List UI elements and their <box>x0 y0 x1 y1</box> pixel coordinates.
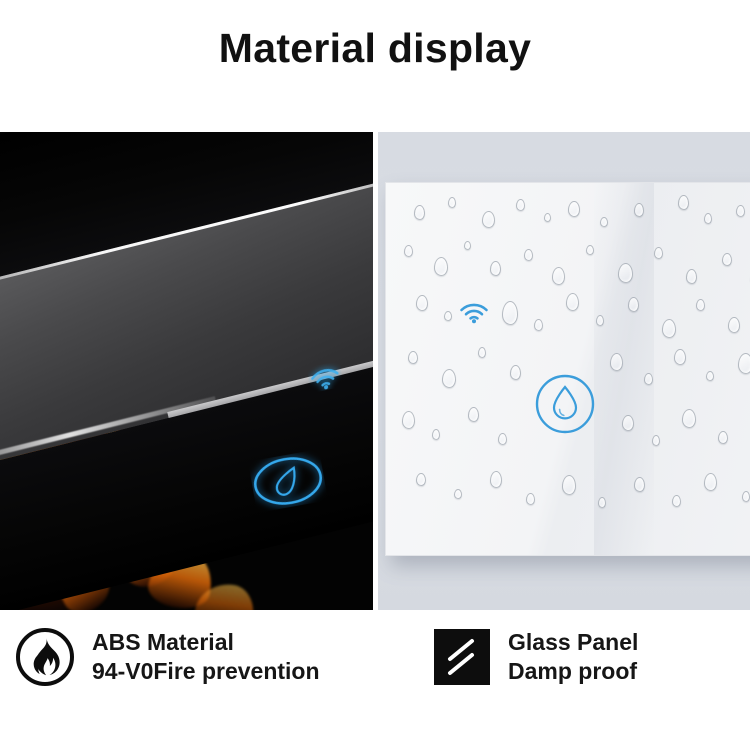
water-droplet <box>432 429 440 440</box>
showcase-photo-row <box>0 132 750 610</box>
water-droplet <box>482 211 495 228</box>
water-droplet <box>738 353 750 374</box>
water-droplet <box>562 475 576 495</box>
water-droplet <box>464 241 471 250</box>
water-droplet <box>610 353 623 371</box>
water-droplet <box>402 411 415 429</box>
water-droplet <box>468 407 479 422</box>
water-droplet <box>414 205 425 220</box>
feature-item-glass-panel: Glass Panel Damp proof <box>434 628 638 687</box>
water-droplet <box>454 489 462 499</box>
white-switch-panel <box>385 182 750 556</box>
water-droplet <box>672 495 681 507</box>
water-droplet <box>534 319 543 331</box>
water-droplet <box>628 297 639 312</box>
water-droplet <box>644 373 653 385</box>
water-droplet <box>586 245 594 255</box>
water-droplet <box>704 473 717 491</box>
water-droplet <box>502 301 518 325</box>
water-droplet <box>634 477 645 492</box>
water-droplet <box>490 471 502 488</box>
water-droplet <box>654 247 663 259</box>
flame-in-circle-icon <box>16 628 74 686</box>
feature-caption: Glass Panel Damp proof <box>508 628 638 687</box>
water-droplet <box>596 315 604 326</box>
feature-line-1: ABS Material <box>92 629 234 655</box>
water-droplet <box>722 253 732 266</box>
feature-line-2: 94-V0Fire prevention <box>92 657 320 686</box>
water-droplet <box>622 415 634 431</box>
water-droplet <box>652 435 660 446</box>
water-droplet <box>526 493 535 505</box>
feature-item-abs-material: ABS Material 94-V0Fire prevention <box>16 628 320 687</box>
water-droplet <box>510 365 521 380</box>
left-product-photo <box>0 132 373 610</box>
water-droplet <box>674 349 686 365</box>
page-title: Material display <box>0 28 750 69</box>
water-droplet <box>598 497 606 508</box>
feature-line-1: Glass Panel <box>508 629 638 655</box>
water-droplet <box>442 369 456 388</box>
water-droplet <box>662 319 676 338</box>
water-droplet <box>408 351 418 364</box>
water-droplet <box>516 199 525 211</box>
water-droplet <box>544 213 551 222</box>
water-droplet <box>416 295 428 311</box>
right-product-photo <box>378 132 750 610</box>
glass-shine-square-icon <box>434 629 490 685</box>
feature-caption: ABS Material 94-V0Fire prevention <box>92 628 320 687</box>
water-droplet <box>552 267 565 285</box>
water-drop-touch-button[interactable] <box>534 373 596 435</box>
water-droplet <box>600 217 608 227</box>
water-droplet <box>718 431 728 444</box>
water-droplet <box>704 213 712 224</box>
water-droplet <box>686 269 697 284</box>
water-droplet <box>524 249 533 261</box>
water-droplet <box>568 201 580 217</box>
wifi-icon <box>458 300 490 324</box>
water-droplet <box>478 347 486 358</box>
water-droplet <box>498 433 507 445</box>
water-droplet <box>448 197 456 208</box>
water-droplet <box>742 491 750 502</box>
feature-line-2: Damp proof <box>508 657 638 686</box>
water-droplet <box>706 371 714 381</box>
water-droplet <box>444 311 452 321</box>
water-droplet <box>728 317 740 333</box>
water-droplet <box>566 293 579 311</box>
water-droplet <box>682 409 696 428</box>
feature-list: ABS Material 94-V0Fire prevention Glass … <box>0 628 750 724</box>
water-droplet <box>416 473 426 486</box>
water-droplet <box>490 261 501 276</box>
water-droplet <box>634 203 644 217</box>
water-droplet <box>404 245 413 257</box>
water-droplet <box>434 257 448 276</box>
water-droplet <box>618 263 633 283</box>
water-droplet <box>696 299 705 311</box>
water-droplet <box>736 205 745 217</box>
water-droplet <box>678 195 689 210</box>
